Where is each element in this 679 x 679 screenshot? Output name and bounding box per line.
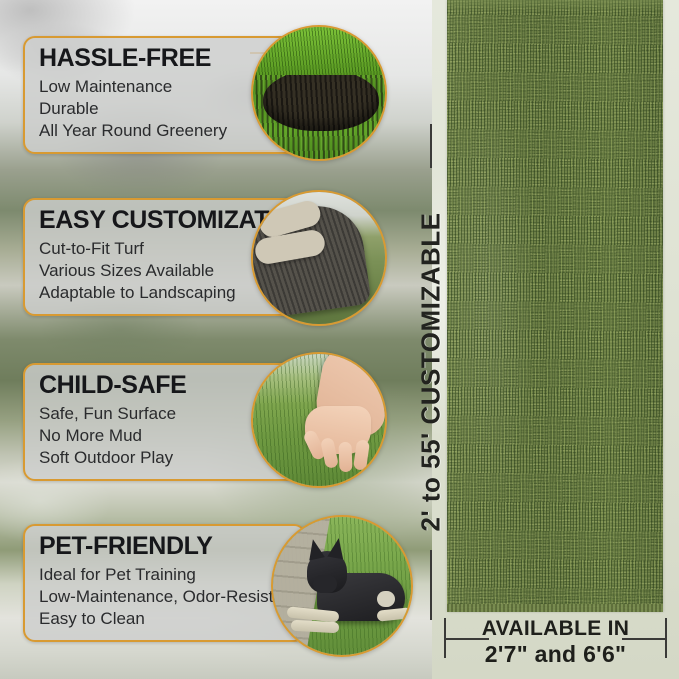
feature-title: PET-FRIENDLY bbox=[39, 534, 292, 560]
horizontal-measurement: AVAILABLE IN 2'7" and 6'6" bbox=[432, 616, 679, 679]
turf-roll-top-edge bbox=[447, 0, 663, 12]
child-hand-on-grass-photo bbox=[251, 352, 387, 488]
child-hand-photo-content bbox=[253, 354, 385, 486]
vertical-measure-line-bottom bbox=[430, 550, 432, 620]
availability-caption: AVAILABLE IN 2'7" and 6'6" bbox=[432, 616, 679, 666]
dog-muzzle-shape bbox=[313, 575, 337, 593]
feature-line: Ideal for Pet Training bbox=[39, 564, 292, 586]
availability-caption-line2: 2'7" and 6'6" bbox=[432, 639, 679, 666]
dog-photo-content bbox=[273, 517, 411, 655]
dog-on-turf-photo bbox=[271, 515, 413, 657]
dog-leg-shape bbox=[377, 607, 412, 621]
availability-caption-line1: AVAILABLE IN bbox=[432, 616, 679, 639]
vertical-measure-label: 2' to 55' CUSTOMIZABLE bbox=[416, 212, 447, 531]
vertical-measure-line-top bbox=[430, 124, 432, 168]
vertical-measurement: 2' to 55' CUSTOMIZABLE bbox=[414, 124, 448, 620]
dog-ear-shape bbox=[327, 537, 346, 559]
gloved-hands-rolling-turf-photo bbox=[251, 190, 387, 326]
dog-chest-marking-shape bbox=[377, 591, 395, 607]
feature-line: Low-Maintenance, Odor-Resistant bbox=[39, 586, 292, 608]
feature-line: Easy to Clean bbox=[39, 608, 292, 630]
feature-card-pet-friendly: PET-FRIENDLY Ideal for Pet Training Low-… bbox=[23, 524, 306, 642]
child-finger-shape bbox=[353, 439, 370, 471]
rolled-turf-photo bbox=[251, 25, 387, 161]
rolled-turf-photo-content bbox=[253, 27, 385, 159]
turf-roll-product-image bbox=[447, 0, 663, 612]
gloved-hands-photo-content bbox=[253, 192, 385, 324]
infographic-canvas: 2' to 55' CUSTOMIZABLE AVAILABLE IN 2'7"… bbox=[0, 0, 679, 679]
child-finger-shape bbox=[338, 442, 352, 472]
